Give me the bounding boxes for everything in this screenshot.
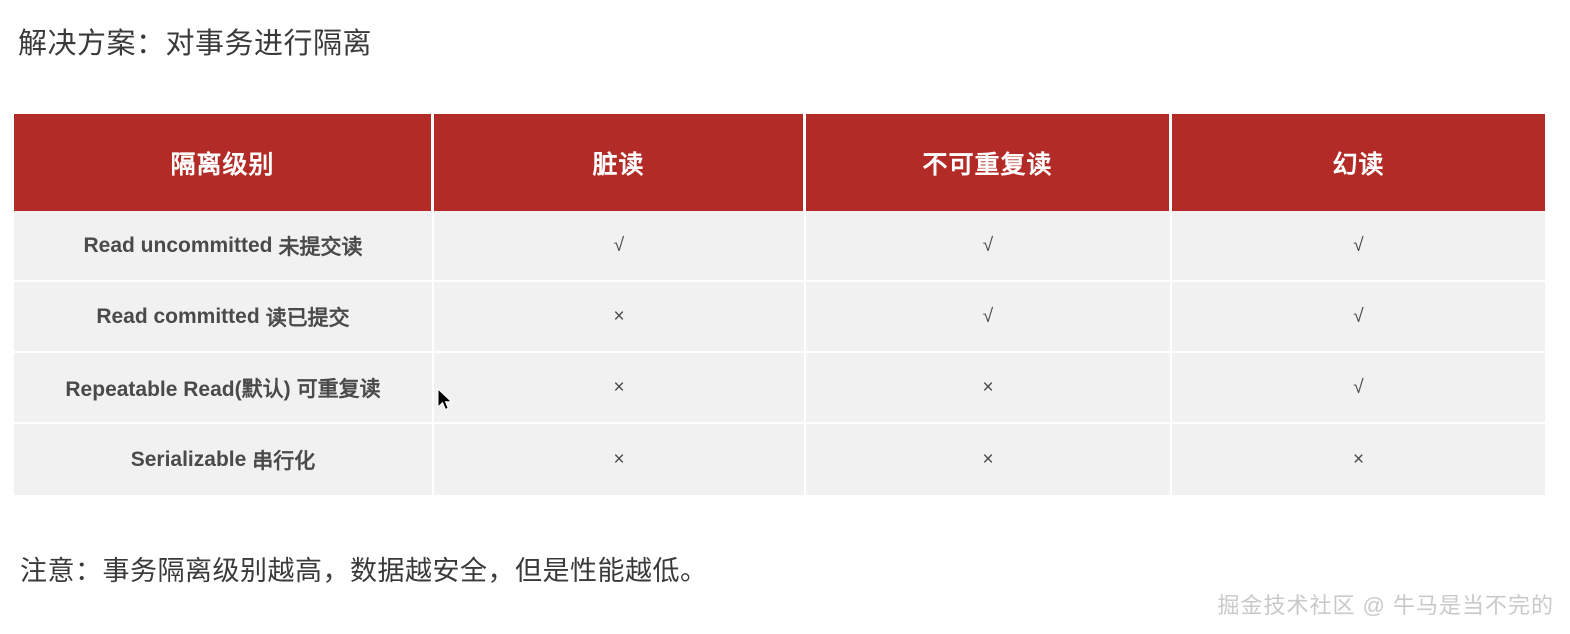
- column-header-dirty-read: 脏读: [434, 114, 806, 211]
- column-header-non-repeatable-read: 不可重复读: [806, 114, 1172, 211]
- table-row: Read committed 读已提交 × √ √: [14, 282, 1545, 353]
- cell-isolation-level: Read committed 读已提交: [14, 282, 434, 351]
- level-name-cn: 可重复读: [297, 373, 381, 403]
- cell-isolation-level: Repeatable Read(默认) 可重复读: [14, 353, 434, 422]
- cell-phantom-read: √: [1172, 282, 1545, 351]
- level-name-cn: 未提交读: [279, 231, 363, 261]
- cell-dirty-read: ×: [434, 353, 806, 422]
- table-row: Read uncommitted 未提交读 √ √ √: [14, 211, 1545, 282]
- cell-isolation-level: Read uncommitted 未提交读: [14, 211, 434, 280]
- cell-dirty-read: √: [434, 211, 806, 280]
- cell-dirty-read: ×: [434, 282, 806, 351]
- cell-phantom-read: √: [1172, 211, 1545, 280]
- isolation-level-table: 隔离级别 脏读 不可重复读 幻读 Read uncommitted 未提交读 √…: [14, 114, 1545, 495]
- level-name-cn: 读已提交: [266, 302, 350, 332]
- cell-non-repeatable-read: √: [806, 282, 1172, 351]
- cell-non-repeatable-read: ×: [806, 353, 1172, 422]
- cell-non-repeatable-read: √: [806, 211, 1172, 280]
- note-text: 注意：事务隔离级别越高，数据越安全，但是性能越低。: [20, 552, 708, 590]
- cell-phantom-read: √: [1172, 353, 1545, 422]
- table-header-row: 隔离级别 脏读 不可重复读 幻读: [14, 114, 1545, 211]
- level-name-en: Serializable: [131, 448, 247, 472]
- level-name-cn: 串行化: [252, 445, 315, 475]
- column-header-phantom-read: 幻读: [1172, 114, 1545, 211]
- table-row: Serializable 串行化 × × ×: [14, 424, 1545, 495]
- page-title: 解决方案：对事务进行隔离: [18, 24, 372, 64]
- watermark-text: 掘金技术社区 @ 牛马是当不完的: [1217, 588, 1554, 620]
- level-name-en: Read committed: [96, 305, 259, 329]
- cell-non-repeatable-read: ×: [806, 424, 1172, 495]
- cell-phantom-read: ×: [1172, 424, 1545, 495]
- cell-dirty-read: ×: [434, 424, 806, 495]
- slide-canvas: 解决方案：对事务进行隔离 隔离级别 脏读 不可重复读 幻读 Read uncom…: [0, 0, 1570, 634]
- level-name-en: Read uncommitted: [83, 234, 272, 258]
- level-name-en: Repeatable Read(默认): [65, 373, 290, 403]
- table-row: Repeatable Read(默认) 可重复读 × × √: [14, 353, 1545, 424]
- column-header-isolation-level: 隔离级别: [14, 114, 434, 211]
- cell-isolation-level: Serializable 串行化: [14, 424, 434, 495]
